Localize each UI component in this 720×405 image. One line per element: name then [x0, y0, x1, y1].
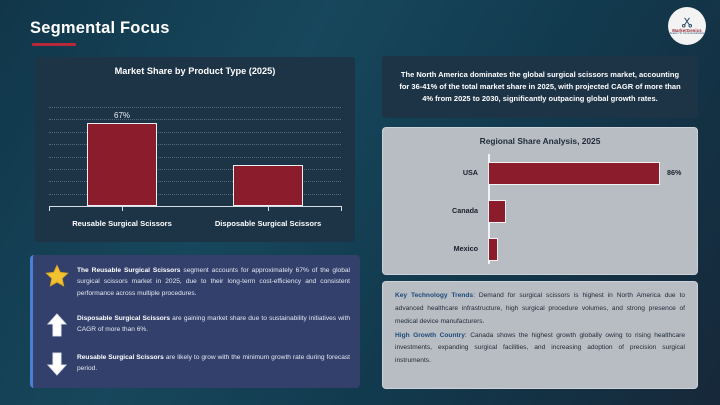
list-item-text: Disposable Surgical Scissors are gaining… — [77, 312, 350, 336]
list-item: Reusable Surgical Scissors are likely to… — [45, 351, 350, 379]
x-axis-tick-label: Disposable Surgical Scissors — [215, 219, 321, 228]
segment-insights-panel: The Reusable Surgical Scissors segment a… — [30, 255, 360, 388]
list-item-text: Reusable Surgical Scissors are likely to… — [77, 351, 350, 375]
arrow-down-icon — [45, 351, 69, 379]
bar-reusable-surgical-scissors — [87, 123, 157, 206]
gridline — [49, 107, 341, 108]
axis-tick — [268, 206, 269, 211]
y-axis-tick-label: USA — [463, 168, 478, 177]
regional-share-chart-panel: Regional Share Analysis, 2025 USA86%Cana… — [382, 127, 698, 275]
regional-share-chart-title: Regional Share Analysis, 2025 — [383, 136, 697, 146]
bar-disposable-surgical-scissors — [233, 165, 303, 206]
axis-end-tick — [49, 206, 50, 211]
bar-usa — [488, 162, 660, 185]
y-axis-tick-label: Mexico — [454, 244, 478, 253]
list-item: The Reusable Surgical Scissors segment a… — [45, 264, 350, 299]
note-paragraph: Key Technology Trends: Demand for surgic… — [395, 290, 685, 329]
logo-tagline: Ideation To Commercialization — [669, 33, 705, 36]
y-axis-tick-label: Canada — [452, 206, 478, 215]
regional-notes-panel: Key Technology Trends: Demand for surgic… — [382, 281, 698, 389]
north-america-callout: The North America dominates the global s… — [382, 56, 698, 118]
bar-value-label: 86% — [667, 168, 681, 177]
bar-canada — [488, 200, 506, 223]
list-item-text: The Reusable Surgical Scissors segment a… — [77, 264, 350, 299]
axis-tick — [122, 206, 123, 211]
note-lead: Key Technology Trends — [395, 292, 473, 299]
note-paragraph: High Growth Country: Canada shows the hi… — [395, 330, 685, 369]
list-item-lead: The Reusable Surgical Scissors — [77, 267, 180, 274]
axis-end-tick — [341, 206, 342, 211]
north-america-callout-text: The North America dominates the global s… — [396, 69, 684, 105]
arrow-up-icon — [45, 312, 69, 340]
page-title: Segmental Focus — [30, 19, 170, 38]
bar-mexico — [488, 238, 498, 261]
bar-value-label: 67% — [114, 111, 130, 120]
title-underline-rule — [32, 43, 76, 46]
product-type-x-axis — [49, 206, 341, 207]
product-type-chart-title: Market Share by Product Type (2025) — [35, 66, 355, 76]
regional-share-plot-area: USA86%CanadaMexico — [383, 154, 697, 268]
note-lead: High Growth Country — [395, 332, 465, 339]
star-icon — [45, 264, 69, 292]
gridline — [49, 119, 341, 120]
scissors-icon — [680, 16, 694, 29]
x-axis-tick-label: Reusable Surgical Scissors — [72, 219, 172, 228]
company-logo: MarketGenics Ideation To Commercializati… — [668, 7, 706, 45]
product-type-chart-panel: Market Share by Product Type (2025) 67% … — [35, 57, 355, 242]
list-item-lead: Reusable Surgical Scissors — [77, 354, 164, 361]
product-type-plot-area: 67% — [49, 107, 341, 206]
list-item: Disposable Surgical Scissors are gaining… — [45, 312, 350, 340]
list-item-lead: Disposable Surgical Scissors — [77, 315, 170, 322]
